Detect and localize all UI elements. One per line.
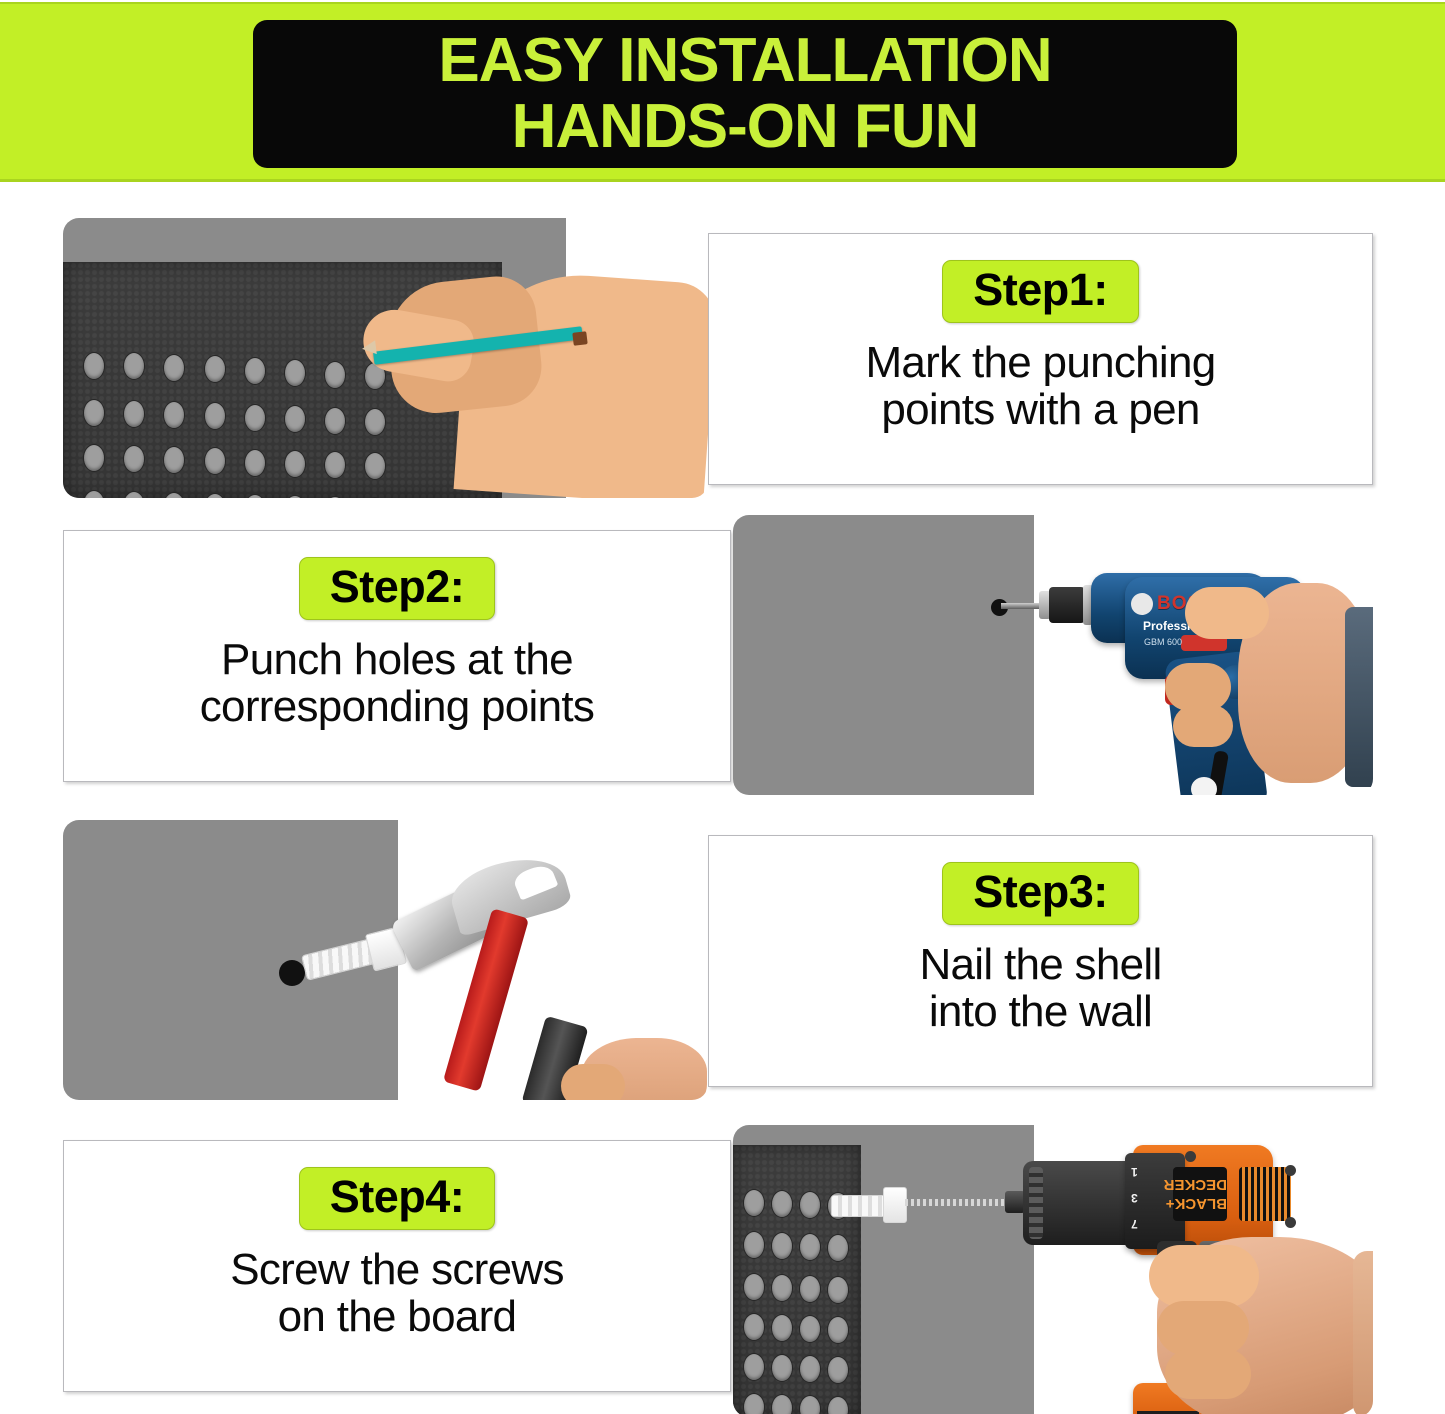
scene-hammer-anchor: [63, 820, 708, 1100]
drill-chuck: [1049, 587, 1085, 623]
thumb: [1185, 587, 1269, 639]
scene-pegboard-pen: [63, 218, 708, 498]
bosch-logo-icon: [1131, 593, 1153, 615]
step-row-4: Step4: Screw the screws on the board: [0, 1122, 1445, 1414]
clutch-mark-7: 7: [1131, 1217, 1138, 1231]
step-1-caption: Mark the punching points with a pen: [865, 339, 1215, 433]
cord-collar: [1191, 777, 1217, 795]
step-4-caption-line-2: on the board: [230, 1293, 564, 1340]
step-4-text-panel: Step4: Screw the screws on the board: [63, 1140, 731, 1392]
pen-end-cap: [572, 331, 587, 346]
step-4-image: 1 3 7 BLACK+ DECKER: [733, 1125, 1373, 1414]
step-1-text-panel: Step1: Mark the punching points with a p…: [708, 233, 1373, 485]
step-1-image: [63, 218, 708, 498]
drill-model-label: GBM 600: [1144, 637, 1182, 647]
step-4-caption: Screw the screws on the board: [230, 1246, 564, 1340]
step-1-caption-line-2: points with a pen: [865, 386, 1215, 433]
step-4-caption-line-1: Screw the screws: [230, 1246, 564, 1293]
step-1-caption-line-1: Mark the punching: [865, 339, 1215, 386]
brand-line-2: DECKER: [1173, 1175, 1227, 1194]
clutch-mark-1: 1: [1131, 1165, 1138, 1179]
fingers: [561, 1064, 625, 1100]
step-2-text-panel: Step2: Punch holes at the corresponding …: [63, 530, 731, 782]
wall-background: [733, 515, 1034, 795]
header-banner-box: EASY INSTALLATION HANDS-ON FUN: [253, 20, 1237, 168]
step-3-badge: Step3:: [942, 862, 1139, 925]
screw-head: [1005, 1191, 1025, 1213]
motor-vent: [1239, 1167, 1291, 1221]
screw-detail-1: [1185, 1151, 1196, 1162]
step-3-caption: Nail the shell into the wall: [919, 941, 1161, 1035]
step-row-2: Step2: Punch holes at the corresponding …: [0, 512, 1445, 802]
finger-2: [1173, 705, 1233, 747]
scene-blue-drill: BOSCH Professional GBM 600: [733, 515, 1373, 795]
pegboard-holes: [733, 1145, 861, 1414]
screw: [905, 1199, 1011, 1206]
step-3-image: [63, 820, 708, 1100]
step-3-caption-line-2: into the wall: [919, 988, 1161, 1035]
pegboard: [733, 1145, 861, 1414]
step-2-caption: Punch holes at the corresponding points: [200, 636, 594, 730]
shirt-sleeve: [1345, 607, 1373, 787]
banner-title-line-1: EASY INSTALLATION: [438, 30, 1051, 92]
header-banner: EASY INSTALLATION HANDS-ON FUN: [0, 2, 1445, 182]
step-1-badge: Step1:: [942, 260, 1139, 323]
step-2-image: BOSCH Professional GBM 600: [733, 515, 1373, 795]
knuckle-1: [1149, 1245, 1259, 1307]
installation-steps-infographic: EASY INSTALLATION HANDS-ON FUN: [0, 0, 1445, 1414]
banner-title-line-2: HANDS-ON FUN: [512, 96, 979, 158]
clutch-mark-3: 3: [1131, 1191, 1138, 1205]
finger-1: [1165, 663, 1231, 711]
step-3-text-panel: Step3: Nail the shell into the wall: [708, 835, 1373, 1087]
screw-detail-3: [1285, 1217, 1296, 1228]
step-row-3: Step3: Nail the shell into the wall: [0, 817, 1445, 1105]
screw-detail-2: [1285, 1165, 1296, 1176]
pen-tip: [361, 340, 377, 356]
knuckle-3: [1165, 1349, 1251, 1399]
chuck-grip-texture: [1029, 1167, 1043, 1239]
black-decker-label: BLACK+ DECKER: [1173, 1167, 1227, 1221]
drilled-hole: [279, 960, 305, 986]
step-2-caption-line-1: Punch holes at the: [200, 636, 594, 683]
step-4-badge: Step4:: [299, 1167, 496, 1230]
brand-line-1: BLACK+: [1173, 1194, 1227, 1213]
wrist: [1353, 1251, 1373, 1414]
step-2-caption-line-2: corresponding points: [200, 683, 594, 730]
knuckle-2: [1157, 1301, 1249, 1355]
scene-orange-drill: 1 3 7 BLACK+ DECKER: [733, 1125, 1373, 1414]
step-row-1: Step1: Mark the punching points with a p…: [0, 215, 1445, 503]
step-3-caption-line-1: Nail the shell: [919, 941, 1161, 988]
step-2-badge: Step2:: [299, 557, 496, 620]
